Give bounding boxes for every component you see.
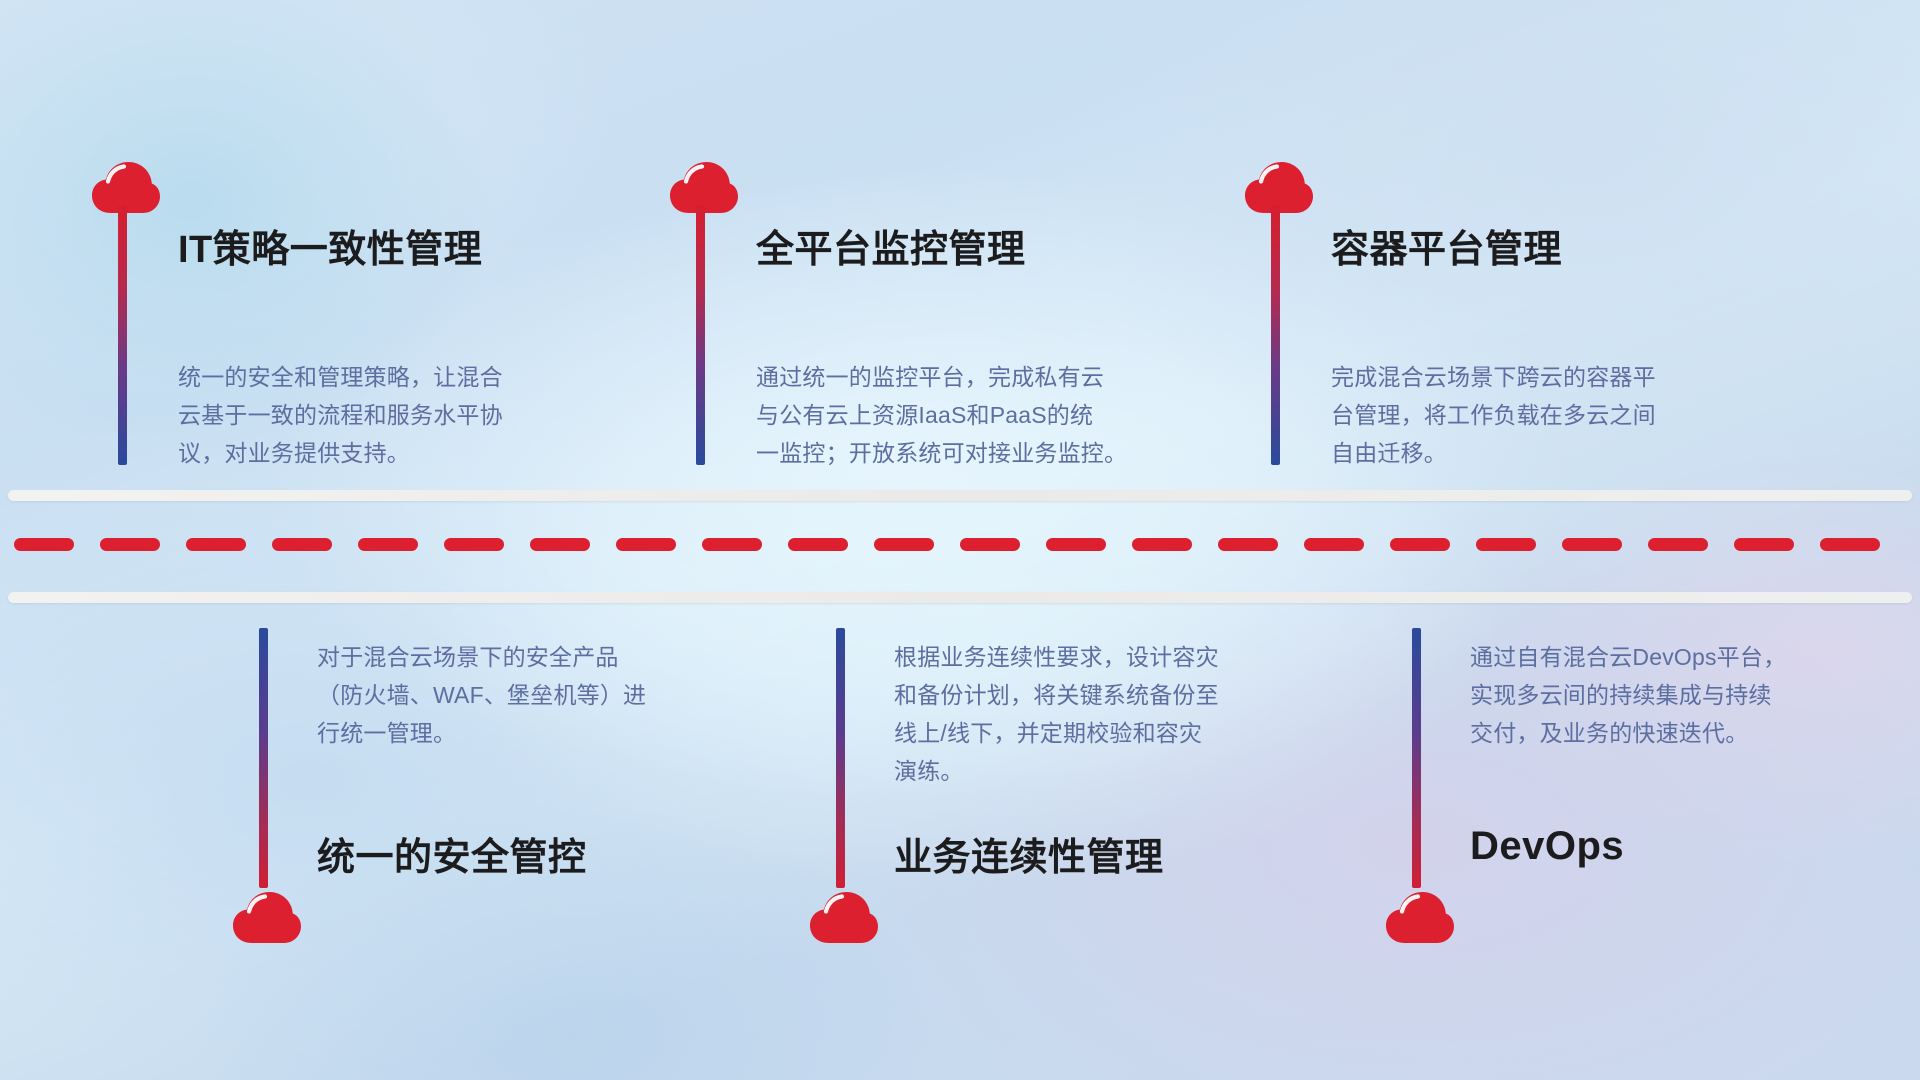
desc-line: 完成混合云场景下跨云的容器平 bbox=[1331, 358, 1656, 396]
timeline-pole bbox=[118, 205, 127, 465]
item-description: 完成混合云场景下跨云的容器平 台管理，将工作负载在多云之间 自由迁移。 bbox=[1331, 358, 1656, 472]
road-dash-segment bbox=[1132, 538, 1192, 551]
road-divider bbox=[0, 484, 1920, 604]
desc-line: 和备份计划，将关键系统备份至 bbox=[894, 676, 1219, 714]
cloud-pin-icon bbox=[231, 890, 303, 944]
item-title: 统一的安全管控 bbox=[317, 826, 587, 881]
desc-line: （防火墙、WAF、堡垒机等）进 bbox=[317, 676, 646, 714]
road-dash-segment bbox=[702, 538, 762, 551]
cloud-pin-icon bbox=[1384, 890, 1456, 944]
desc-line: 行统一管理。 bbox=[317, 714, 646, 752]
road-dashed-centerline bbox=[0, 538, 1920, 551]
road-dash-segment bbox=[960, 538, 1020, 551]
road-dash-segment bbox=[1820, 538, 1880, 551]
timeline-pole bbox=[836, 628, 845, 888]
road-dash-segment bbox=[444, 538, 504, 551]
desc-line: 根据业务连续性要求，设计容灾 bbox=[894, 638, 1219, 676]
road-dash-segment bbox=[616, 538, 676, 551]
cloud-pin-icon bbox=[808, 890, 880, 944]
road-dash-segment bbox=[1304, 538, 1364, 551]
desc-line: 自由迁移。 bbox=[1331, 434, 1656, 472]
desc-line: 一监控；开放系统可对接业务监控。 bbox=[756, 434, 1127, 472]
item-description: 通过统一的监控平台，完成私有云 与公有云上资源IaaS和PaaS的统 一监控；开… bbox=[756, 358, 1127, 472]
item-title: DevOps bbox=[1470, 824, 1624, 869]
road-dash-segment bbox=[14, 538, 74, 551]
desc-line: 对于混合云场景下的安全产品 bbox=[317, 638, 646, 676]
timeline-pole bbox=[696, 205, 705, 465]
timeline-pole bbox=[1271, 205, 1280, 465]
road-dash-segment bbox=[1734, 538, 1794, 551]
desc-line: 通过统一的监控平台，完成私有云 bbox=[756, 358, 1127, 396]
timeline-pole bbox=[259, 628, 268, 888]
road-dash-segment bbox=[788, 538, 848, 551]
desc-line: 与公有云上资源IaaS和PaaS的统 bbox=[756, 396, 1127, 434]
item-description: 统一的安全和管理策略，让混合 云基于一致的流程和服务水平协 议，对业务提供支持。 bbox=[178, 358, 503, 472]
road-dash-segment bbox=[1476, 538, 1536, 551]
item-description: 通过自有混合云DevOps平台， 实现多云间的持续集成与持续 交付，及业务的快速… bbox=[1470, 638, 1786, 752]
timeline-pole bbox=[1412, 628, 1421, 888]
road-dash-segment bbox=[530, 538, 590, 551]
road-dash-segment bbox=[358, 538, 418, 551]
item-description: 根据业务连续性要求，设计容灾 和备份计划，将关键系统备份至 线上/线下，并定期校… bbox=[894, 638, 1219, 790]
item-description: 对于混合云场景下的安全产品 （防火墙、WAF、堡垒机等）进 行统一管理。 bbox=[317, 638, 646, 752]
desc-line: 实现多云间的持续集成与持续 bbox=[1470, 676, 1786, 714]
item-title: IT策略一致性管理 bbox=[178, 218, 482, 273]
desc-line: 台管理，将工作负载在多云之间 bbox=[1331, 396, 1656, 434]
item-title: 业务连续性管理 bbox=[894, 826, 1164, 881]
desc-line: 统一的安全和管理策略，让混合 bbox=[178, 358, 503, 396]
road-dash-segment bbox=[272, 538, 332, 551]
road-dash-segment bbox=[1046, 538, 1106, 551]
desc-line: 线上/线下，并定期校验和容灾 bbox=[894, 714, 1219, 752]
desc-line: 云基于一致的流程和服务水平协 bbox=[178, 396, 503, 434]
road-dash-segment bbox=[1218, 538, 1278, 551]
desc-line: 议，对业务提供支持。 bbox=[178, 434, 503, 472]
road-dash-segment bbox=[874, 538, 934, 551]
road-dash-segment bbox=[1648, 538, 1708, 551]
road-dash-segment bbox=[1390, 538, 1450, 551]
desc-line: 通过自有混合云DevOps平台， bbox=[1470, 638, 1786, 676]
road-dash-segment bbox=[1562, 538, 1622, 551]
item-title: 全平台监控管理 bbox=[756, 218, 1026, 273]
desc-line: 交付，及业务的快速迭代。 bbox=[1470, 714, 1786, 752]
road-dash-segment bbox=[100, 538, 160, 551]
desc-line: 演练。 bbox=[894, 752, 1219, 790]
infographic-canvas: IT策略一致性管理 统一的安全和管理策略，让混合 云基于一致的流程和服务水平协 … bbox=[0, 0, 1920, 1080]
road-edge-bottom bbox=[8, 592, 1912, 603]
item-title: 容器平台管理 bbox=[1331, 218, 1562, 273]
road-dash-segment bbox=[186, 538, 246, 551]
road-edge-top bbox=[8, 490, 1912, 501]
